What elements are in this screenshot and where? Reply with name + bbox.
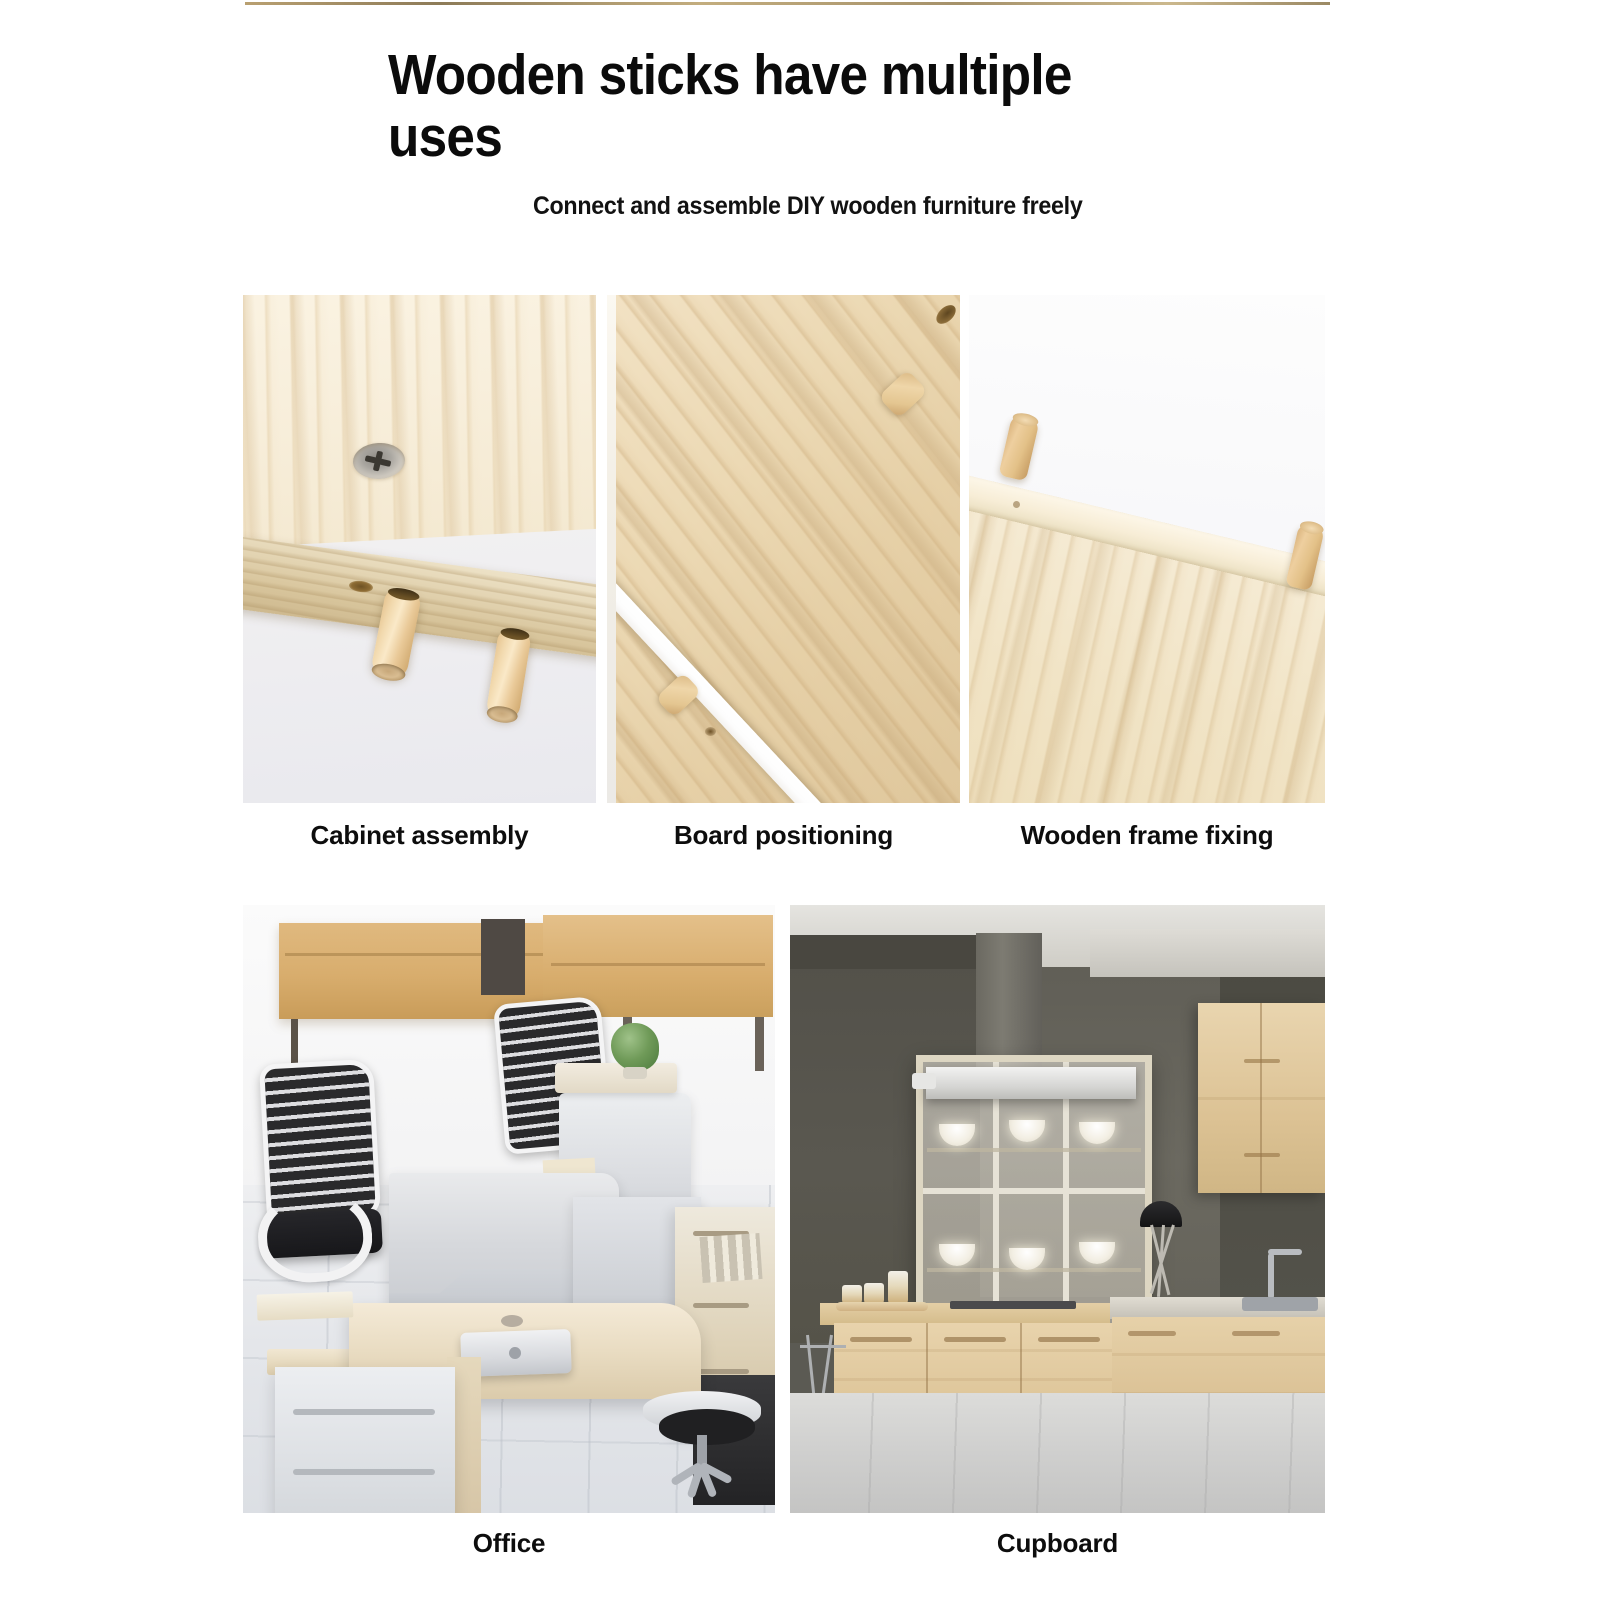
office-chair-foreground bbox=[635, 1391, 767, 1509]
cabinet-handle bbox=[944, 1337, 1006, 1342]
desk-shelf bbox=[555, 1063, 677, 1093]
photo-cupboard bbox=[790, 905, 1325, 1513]
cabinet-handle bbox=[1244, 1153, 1280, 1157]
bowl bbox=[1079, 1242, 1115, 1264]
cabinet-handle bbox=[1038, 1337, 1100, 1342]
caption-board-positioning: Board positioning bbox=[607, 820, 960, 851]
bowl bbox=[1009, 1248, 1045, 1270]
photo-wooden-frame-fixing bbox=[969, 295, 1325, 803]
caption-cupboard: Cupboard bbox=[790, 1528, 1325, 1559]
wall-cabinet bbox=[1198, 1003, 1325, 1193]
bowl bbox=[1079, 1122, 1115, 1144]
cup bbox=[842, 1285, 862, 1305]
caption-cabinet-assembly: Cabinet assembly bbox=[243, 820, 596, 851]
top-accent-rule bbox=[245, 2, 1330, 5]
photo-edge-highlight bbox=[607, 295, 616, 803]
drawer-handle bbox=[693, 1369, 749, 1374]
drawer-handle bbox=[293, 1409, 435, 1415]
cooktop bbox=[950, 1301, 1076, 1309]
cabinet-handle bbox=[1128, 1331, 1176, 1336]
desk-paper bbox=[257, 1291, 354, 1320]
cabinet-mullion bbox=[993, 1062, 999, 1332]
cabinet-mullion bbox=[1063, 1062, 1069, 1332]
cabinet-leg bbox=[755, 1017, 764, 1071]
drawer-handle bbox=[693, 1303, 749, 1308]
kitchen-floor bbox=[790, 1393, 1325, 1513]
wood-knot bbox=[705, 727, 716, 736]
chair-base bbox=[641, 1461, 765, 1505]
cabinet-shelf bbox=[927, 1268, 1141, 1272]
stool-seat bbox=[800, 1345, 846, 1348]
bowl bbox=[939, 1124, 975, 1146]
page-subtitle: Connect and assemble DIY wooden furnitur… bbox=[533, 192, 1082, 221]
ceiling-soffit bbox=[1090, 929, 1325, 977]
photo-office bbox=[243, 905, 775, 1513]
caption-wooden-frame-fixing: Wooden frame fixing bbox=[969, 820, 1325, 851]
photo-board-positioning bbox=[607, 295, 960, 803]
cabinet-door-gap bbox=[1260, 1003, 1262, 1193]
cabinet-handle bbox=[1244, 1059, 1280, 1063]
kitchen-sink bbox=[1242, 1297, 1318, 1311]
drawer-pedestal bbox=[275, 1367, 455, 1513]
wood-board-face bbox=[243, 295, 596, 549]
photo-cabinet-assembly bbox=[243, 295, 596, 803]
background-shadow-gap bbox=[481, 919, 525, 995]
cups-on-tray bbox=[842, 1271, 920, 1305]
potted-plant bbox=[611, 1023, 659, 1071]
wood-knot bbox=[1013, 501, 1020, 508]
cabinet-handle bbox=[1232, 1331, 1280, 1336]
wood-board-face bbox=[607, 295, 960, 803]
bowl bbox=[1009, 1120, 1045, 1142]
cup bbox=[888, 1271, 908, 1305]
books-on-shelf bbox=[699, 1233, 762, 1283]
bowl bbox=[939, 1244, 975, 1266]
ceiling-recess bbox=[790, 935, 980, 969]
cup bbox=[864, 1283, 884, 1305]
caption-office: Office bbox=[243, 1528, 775, 1559]
chair-cushion bbox=[659, 1409, 755, 1445]
page-title: Wooden sticks have multiple uses bbox=[388, 44, 1072, 168]
cabinet-mullion bbox=[923, 1188, 1145, 1194]
extractor-hood bbox=[926, 1067, 1136, 1099]
drawer-handle bbox=[293, 1469, 435, 1475]
cabinet-leg bbox=[291, 1019, 298, 1065]
sink-faucet bbox=[1268, 1253, 1274, 1299]
cabinet-handle bbox=[850, 1337, 912, 1342]
cabinet-shelf bbox=[927, 1148, 1141, 1152]
